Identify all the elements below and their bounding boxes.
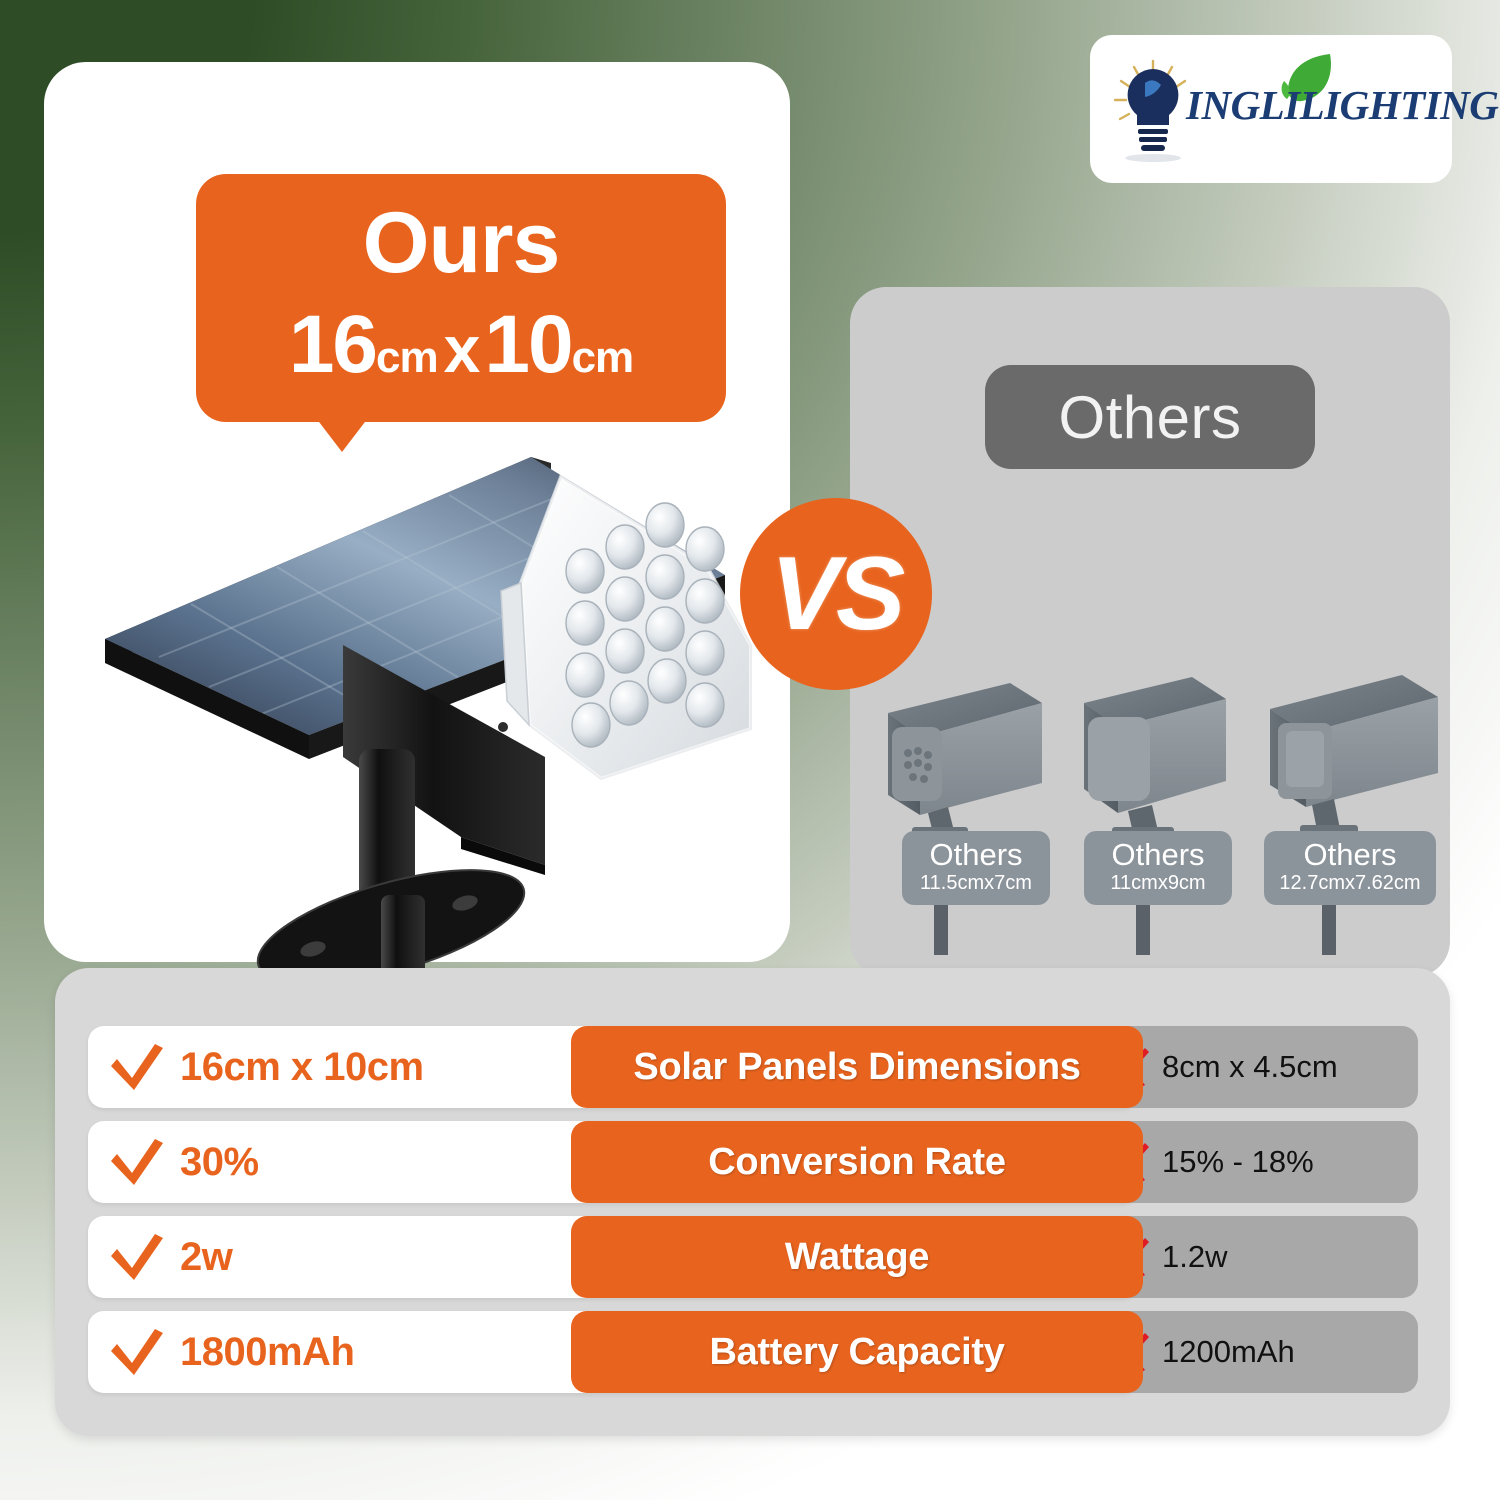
table-row: 30% Conversion Rate 15% - 18% — [88, 1121, 1418, 1203]
check-icon — [94, 1133, 180, 1191]
others-label-2: Others 11cmx9cm — [1084, 831, 1232, 905]
others-lamps-group — [870, 655, 1450, 955]
row-feature-label: Wattage — [571, 1216, 1143, 1298]
ours-dim-height: 10 — [484, 299, 571, 390]
others-label-2-title: Others — [1090, 838, 1226, 871]
ours-badge-dimensions: 16cmx10cm — [196, 286, 726, 386]
check-icon — [94, 1323, 180, 1381]
solar-spotlight-svg — [99, 457, 789, 1027]
row-ours-value: 1800mAh — [180, 1330, 354, 1375]
row-ours-value: 2w — [180, 1235, 232, 1280]
table-row: 2w Wattage 1.2w — [88, 1216, 1418, 1298]
others-label-3: Others 12.7cmx7.62cm — [1264, 831, 1436, 905]
ours-dim-height-unit: cm — [572, 333, 634, 382]
others-label-1: Others 11.5cmx7cm — [902, 831, 1050, 905]
vs-badge: VS — [740, 498, 932, 690]
row-feature-label: Solar Panels Dimensions — [571, 1026, 1143, 1108]
others-label-2-dimensions: 11cmx9cm — [1090, 871, 1226, 896]
row-feature-label: Conversion Rate — [571, 1121, 1143, 1203]
check-icon — [94, 1228, 180, 1286]
ours-badge-tail — [316, 418, 368, 452]
ours-card: Ours 16cmx10cm — [44, 62, 790, 962]
others-label-1-title: Others — [908, 838, 1044, 871]
row-others-value: 8cm x 4.5cm — [1162, 1049, 1338, 1085]
row-ours-value: 30% — [180, 1140, 259, 1185]
others-title-badge: Others — [985, 365, 1315, 469]
ours-badge: Ours 16cmx10cm — [196, 174, 726, 422]
others-label-3-title: Others — [1270, 838, 1430, 871]
row-ours-value: 16cm x 10cm — [180, 1045, 424, 1090]
ours-dim-width: 16 — [289, 299, 376, 390]
others-label-3-dimensions: 12.7cmx7.62cm — [1270, 871, 1430, 896]
row-feature-label: Battery Capacity — [571, 1311, 1143, 1393]
brand-logo-card: INGLILIGHTING — [1090, 35, 1452, 183]
others-label-1-dimensions: 11.5cmx7cm — [908, 871, 1044, 896]
ours-dim-width-unit: cm — [376, 333, 438, 382]
comparison-rows: 16cm x 10cm Solar Panels Dimensions 8cm … — [88, 1026, 1418, 1406]
row-others-value: 1.2w — [1162, 1239, 1227, 1275]
brand-logo-text: INGLILIGHTING — [1186, 81, 1498, 129]
table-row: 16cm x 10cm Solar Panels Dimensions 8cm … — [88, 1026, 1418, 1108]
comparison-table: 16cm x 10cm Solar Panels Dimensions 8cm … — [55, 968, 1450, 1436]
others-lamps-svg — [870, 655, 1450, 955]
infographic-root: Ours 16cmx10cm — [0, 0, 1500, 1500]
table-row: 1800mAh Battery Capacity 1200mAh — [88, 1311, 1418, 1393]
row-others-value: 15% - 18% — [1162, 1144, 1314, 1180]
check-icon — [94, 1038, 180, 1096]
solar-spotlight-image — [99, 457, 789, 1027]
row-others-value: 1200mAh — [1162, 1334, 1295, 1370]
ours-dim-separator: x — [438, 312, 485, 386]
ours-badge-title: Ours — [196, 174, 726, 286]
